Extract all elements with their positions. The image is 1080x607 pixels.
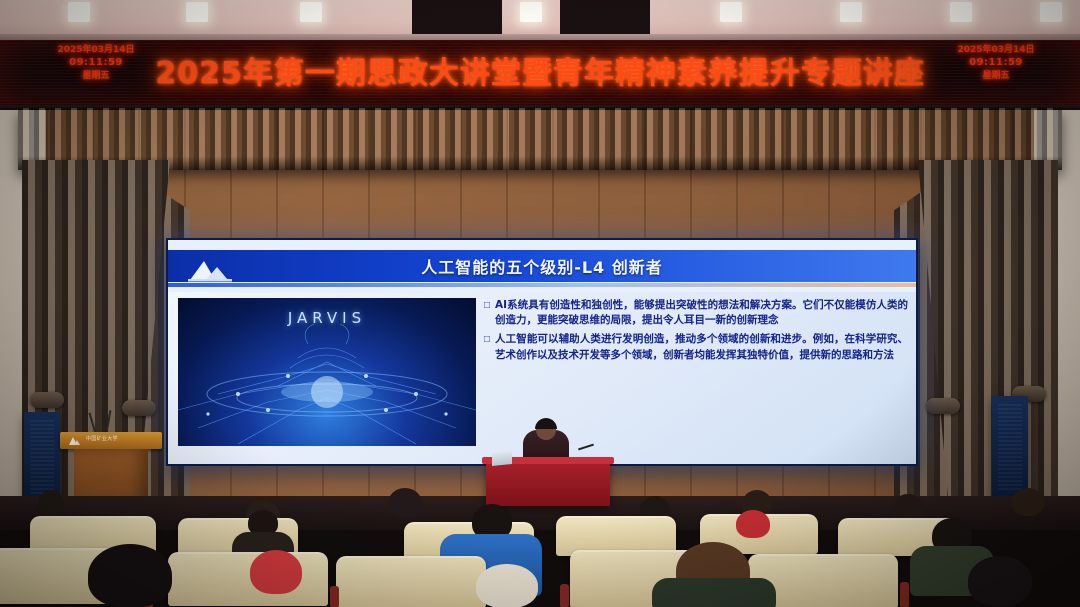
ceiling-light bbox=[68, 2, 90, 22]
banner-title: 2025年第一期思政大讲堂暨青年精神素养提升专题讲座 bbox=[0, 48, 1080, 92]
bullet-marker-icon: □ bbox=[484, 298, 490, 328]
bullet-text: AI系统具有创造性和独创性，能够提出突破性的想法和解决方案。它们不仅能模仿人类的… bbox=[495, 298, 908, 328]
curtain-tieback bbox=[30, 392, 64, 408]
seat bbox=[336, 556, 486, 607]
ceiling-light bbox=[520, 2, 542, 22]
jarvis-caption: JARVIS bbox=[178, 309, 476, 327]
bullet-text: 人工智能可以辅助人类进行发明创造，推动多个领域的创新和进步。例如，在科学研究、艺… bbox=[495, 332, 908, 362]
audience-member bbox=[38, 490, 64, 516]
seat-armrest bbox=[900, 582, 909, 607]
stage-valance bbox=[18, 108, 1062, 170]
audience-member bbox=[476, 564, 538, 607]
mountain-logo-icon bbox=[67, 435, 82, 446]
slide-bullet: □ AI系统具有创造性和独创性，能够提出突破性的想法和解决方案。它们不仅能模仿人… bbox=[484, 298, 908, 328]
audience-member bbox=[968, 556, 1032, 606]
podium-label: 中国矿业大学 bbox=[86, 435, 118, 442]
curtain-tieback bbox=[122, 400, 156, 416]
audience-member bbox=[1012, 488, 1044, 516]
slide-image: JARVIS bbox=[178, 298, 476, 446]
ceiling-light bbox=[840, 2, 862, 22]
audience-member bbox=[388, 488, 422, 518]
bullet-marker-icon: □ bbox=[484, 332, 490, 362]
audience-member-torso bbox=[652, 578, 776, 607]
laptop bbox=[492, 451, 512, 466]
auditorium-photo: 2025年03月14日 09:11:59 星期五 2025年第一期思政大讲堂暨青… bbox=[0, 0, 1080, 607]
clock-right: 2025年03月14日 09:11:59 星期五 bbox=[950, 44, 1042, 82]
pa-speaker-right bbox=[992, 396, 1028, 500]
curtain-tieback bbox=[926, 398, 960, 414]
ceiling-light bbox=[186, 2, 208, 22]
ceiling-recess bbox=[412, 0, 502, 34]
seat-armrest bbox=[330, 586, 339, 607]
ceiling-light bbox=[950, 2, 972, 22]
clock-weekday: 星期五 bbox=[950, 70, 1042, 82]
podium-top: 中国矿业大学 bbox=[60, 432, 162, 449]
ceiling-light bbox=[1040, 2, 1062, 22]
audience-member bbox=[250, 550, 302, 594]
seat bbox=[168, 552, 328, 606]
audience-area bbox=[0, 486, 1080, 607]
slide-title: 人工智能的五个级别-L4 创新者 bbox=[168, 254, 916, 278]
clock-time: 09:11:59 bbox=[950, 56, 1042, 70]
ceiling-light bbox=[720, 2, 742, 22]
audience-member-hat bbox=[736, 510, 770, 538]
ceiling-light bbox=[300, 2, 322, 22]
ceiling-recess bbox=[560, 0, 650, 34]
led-banner: 2025年03月14日 09:11:59 星期五 2025年第一期思政大讲堂暨青… bbox=[0, 40, 1080, 105]
seat-armrest bbox=[560, 584, 569, 607]
clock-date: 2025年03月14日 bbox=[950, 44, 1042, 56]
slide-header: 人工智能的五个级别-L4 创新者 bbox=[168, 250, 916, 282]
audience-member bbox=[88, 544, 172, 607]
slide-bullet: □ 人工智能可以辅助人类进行发明创造，推动多个领域的创新和进步。例如，在科学研究… bbox=[484, 332, 908, 362]
